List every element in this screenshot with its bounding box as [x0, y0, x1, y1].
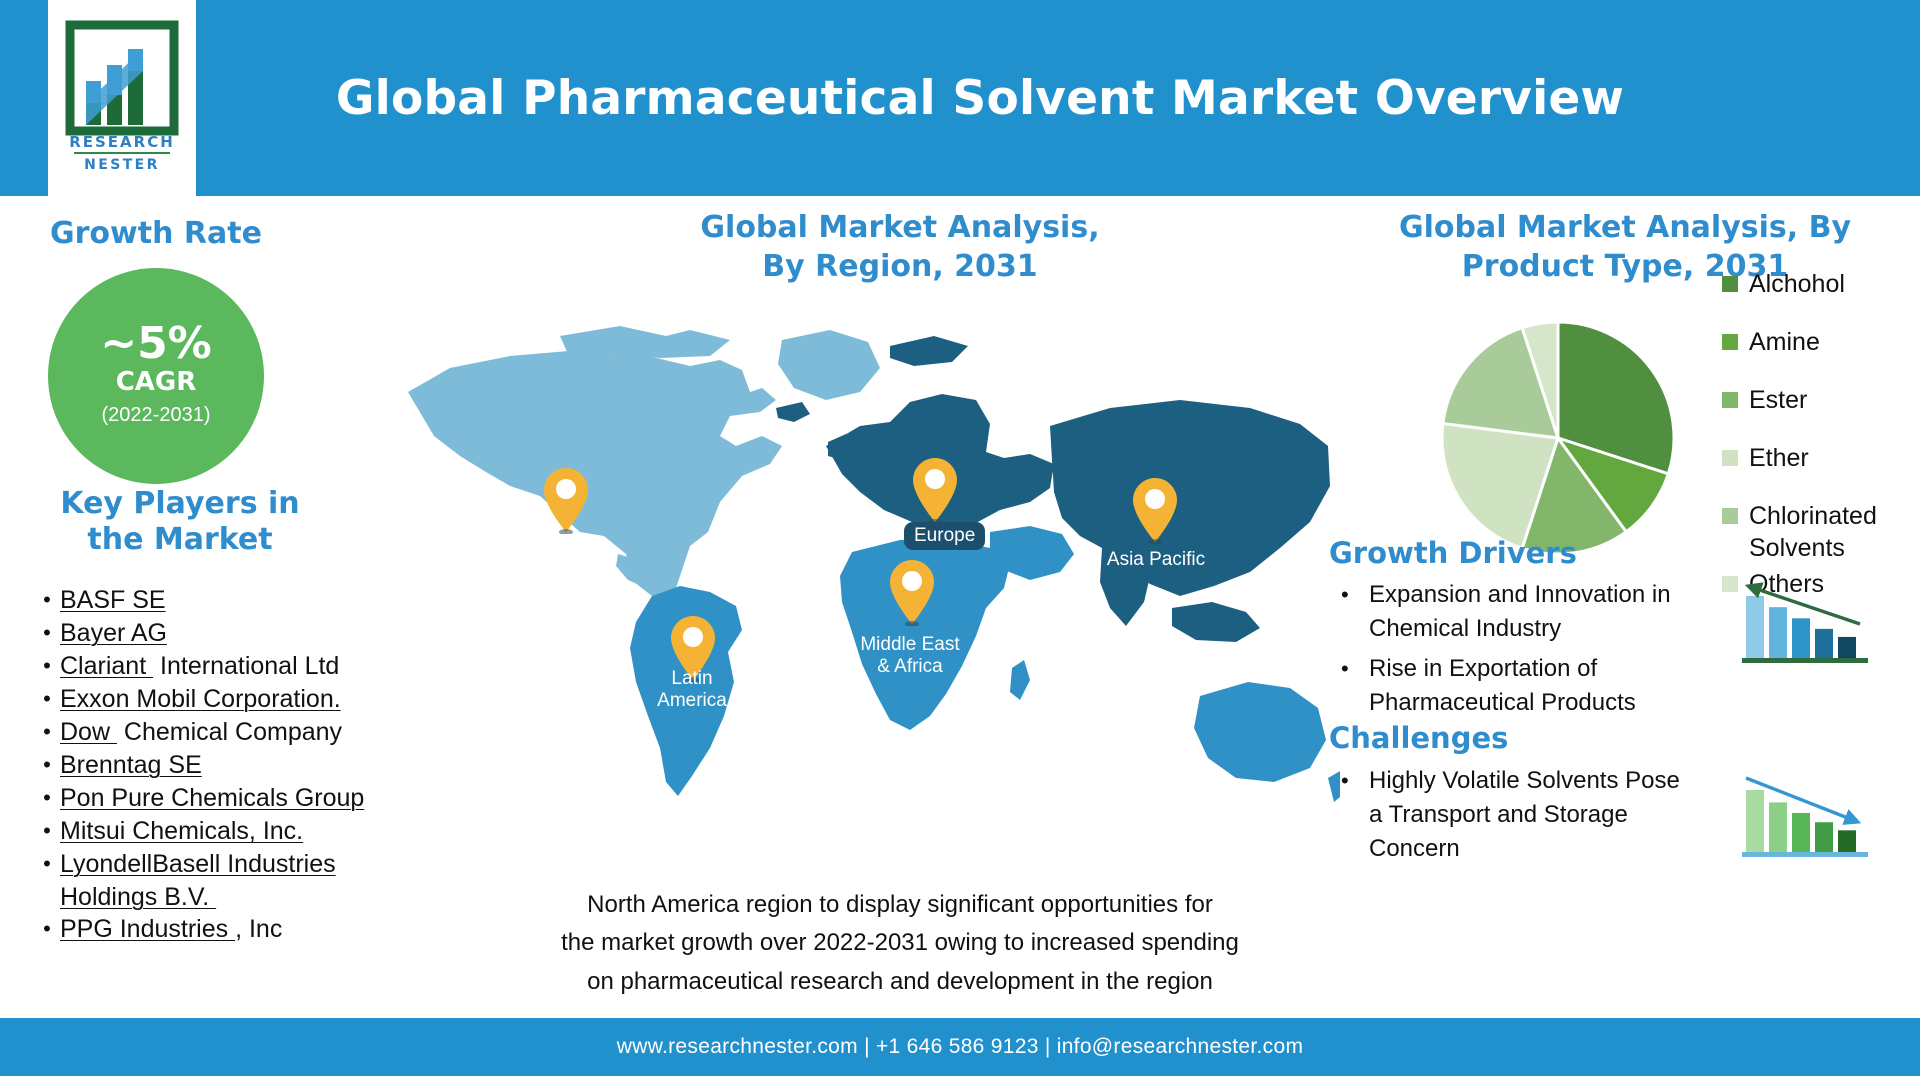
legend-item[interactable]: Ester — [1722, 384, 1920, 416]
cagr-label: CAGR — [116, 366, 197, 400]
right-column: Global Market Analysis, By Product Type,… — [1330, 196, 1920, 1018]
growth-rate-heading: Growth Rate — [50, 216, 262, 251]
legend-item[interactable]: Amine — [1722, 326, 1920, 358]
map-region-iceland — [776, 402, 810, 422]
bullet-icon: • — [1329, 652, 1369, 686]
map-region-australia — [1194, 682, 1326, 782]
key-player-label: Brenntag SE — [60, 749, 202, 781]
world-map: North America Europe Asia Pacific Middle… — [390, 296, 1340, 876]
map-pin-asia-pacific[interactable] — [1129, 476, 1181, 544]
legend-label: Ether — [1749, 442, 1809, 474]
legend-label: Ester — [1749, 384, 1807, 416]
key-player-label-continuation: Holdings B.V. — [34, 881, 474, 913]
mini-baseline — [1742, 658, 1868, 663]
center-column: Global Market Analysis, By Region, 2031 — [470, 196, 1330, 1018]
challenges-bar-svg — [1740, 776, 1880, 861]
key-player-label: Bayer AG — [60, 617, 167, 649]
legend-swatch-icon — [1722, 334, 1738, 350]
growth-drivers-heading: Growth Drivers — [1329, 536, 1577, 570]
pie-chart-legend: AlchoholAmineEsterEtherChlorinated Solve… — [1722, 268, 1920, 604]
header-bar: RESEARCH NESTER Global Pharmaceutical So… — [0, 0, 1920, 196]
challenge-item-label: Highly Volatile Solvents Pose a Transpor… — [1369, 764, 1689, 866]
bullet-icon: • — [34, 683, 60, 715]
bullet-icon: • — [34, 584, 60, 616]
trend-arrow-icon — [1748, 586, 1860, 624]
legend-swatch-icon — [1722, 450, 1738, 466]
legend-item[interactable]: Ether — [1722, 442, 1920, 474]
growth-driver-item: •Rise in Exportation of Pharmaceutical P… — [1329, 652, 1689, 720]
legend-swatch-icon — [1722, 576, 1738, 592]
bullet-icon: • — [1329, 764, 1369, 798]
map-label-asia-pacific: Asia Pacific — [1076, 549, 1236, 571]
key-player-label: BASF SE — [60, 584, 166, 616]
mini-bar — [1746, 596, 1764, 658]
key-player-label: PPG Industries , Inc — [60, 913, 282, 945]
growth-drivers-list: •Expansion and Innovation in Chemical In… — [1329, 578, 1689, 726]
challenges-list: •Highly Volatile Solvents Pose a Transpo… — [1329, 764, 1689, 872]
mini-bar — [1792, 618, 1810, 658]
growth-drivers-bar-chart — [1740, 582, 1880, 667]
mini-bar — [1838, 830, 1856, 852]
legend-label: Alchohol — [1749, 268, 1845, 300]
legend-item[interactable]: Chlorinated Solvents — [1722, 500, 1920, 564]
key-player-label: Exxon Mobil Corporation. — [60, 683, 341, 715]
pie-chart-svg — [1438, 318, 1678, 558]
legend-swatch-icon — [1722, 508, 1738, 524]
footer-bar: www.researchnester.com | +1 646 586 9123… — [0, 1018, 1920, 1076]
logo-title: RESEARCH — [60, 133, 184, 151]
mini-bar — [1815, 822, 1833, 852]
page-title: Global Pharmaceutical Solvent Market Ove… — [240, 0, 1720, 196]
product-type-pie-chart — [1438, 318, 1678, 558]
growth-driver-item-label: Rise in Exportation of Pharmaceutical Pr… — [1369, 652, 1689, 720]
legend-swatch-icon — [1722, 276, 1738, 292]
key-player-label: Dow Chemical Company — [60, 716, 342, 748]
bullet-icon: • — [34, 650, 60, 682]
mini-bar — [1792, 813, 1810, 852]
map-label-latin-america: Latin America — [612, 668, 772, 712]
logo-divider — [74, 152, 170, 154]
key-player-label: Pon Pure Chemicals Group — [60, 782, 364, 814]
key-player-label: LyondellBasell Industries — [60, 848, 336, 880]
key-players-heading: Key Players in the Market — [50, 486, 310, 558]
mini-bar — [1815, 629, 1833, 658]
mini-bar — [1769, 802, 1787, 852]
map-pin-middle-east-africa[interactable] — [886, 558, 938, 626]
world-map-svg — [390, 296, 1340, 876]
challenges-heading: Challenges — [1329, 721, 1508, 755]
legend-label: Chlorinated Solvents — [1749, 500, 1920, 564]
legend-item[interactable]: Alchohol — [1722, 268, 1920, 300]
logo-subtitle: NESTER — [60, 157, 184, 173]
map-caption: North America region to display signific… — [480, 886, 1320, 1001]
map-region-madagascar — [1010, 660, 1030, 700]
bullet-icon: • — [34, 913, 60, 945]
map-label-middle-east-africa: Middle East & Africa — [830, 634, 990, 678]
infographic-page: RESEARCH NESTER Global Pharmaceutical So… — [0, 0, 1920, 1076]
bullet-icon: • — [34, 716, 60, 748]
key-player-label: Clariant International Ltd — [60, 650, 339, 682]
map-region-greenland — [778, 330, 880, 400]
legend-label: Amine — [1749, 326, 1820, 358]
growth-drivers-bar-svg — [1740, 582, 1880, 667]
mini-baseline — [1742, 852, 1868, 857]
mini-bar — [1769, 607, 1787, 658]
map-label-north-america: North America — [506, 536, 626, 580]
bullet-icon: • — [34, 749, 60, 781]
cagr-badge: ~5% CAGR (2022-2031) — [48, 268, 264, 484]
map-pin-europe[interactable] — [909, 456, 961, 524]
bullet-icon: • — [1329, 578, 1369, 612]
legend-swatch-icon — [1722, 392, 1738, 408]
region-analysis-heading: Global Market Analysis, By Region, 2031 — [470, 208, 1330, 286]
key-player-item[interactable]: •PPG Industries , Inc — [34, 913, 474, 945]
bullet-icon: • — [34, 848, 60, 880]
bullet-icon: • — [34, 617, 60, 649]
mini-bar — [1838, 637, 1856, 658]
map-region-scandinavia-top — [890, 336, 968, 366]
bullet-icon: • — [34, 815, 60, 847]
map-region-sea-islands — [1172, 602, 1260, 642]
challenge-item: •Highly Volatile Solvents Pose a Transpo… — [1329, 764, 1689, 866]
cagr-years: (2022-2031) — [102, 400, 211, 430]
mini-bar — [1746, 790, 1764, 852]
map-pin-north-america[interactable] — [540, 466, 592, 534]
research-nester-logo: RESEARCH NESTER — [48, 0, 196, 196]
bullet-icon: • — [34, 782, 60, 814]
map-label-europe: Europe — [904, 522, 985, 550]
key-player-label: Mitsui Chemicals, Inc. — [60, 815, 303, 847]
growth-driver-item: •Expansion and Innovation in Chemical In… — [1329, 578, 1689, 646]
growth-driver-item-label: Expansion and Innovation in Chemical Ind… — [1369, 578, 1689, 646]
cagr-value: ~5% — [100, 322, 212, 366]
challenges-bar-chart — [1740, 776, 1880, 861]
footer-contact-text: www.researchnester.com | +1 646 586 9123… — [617, 1035, 1303, 1059]
